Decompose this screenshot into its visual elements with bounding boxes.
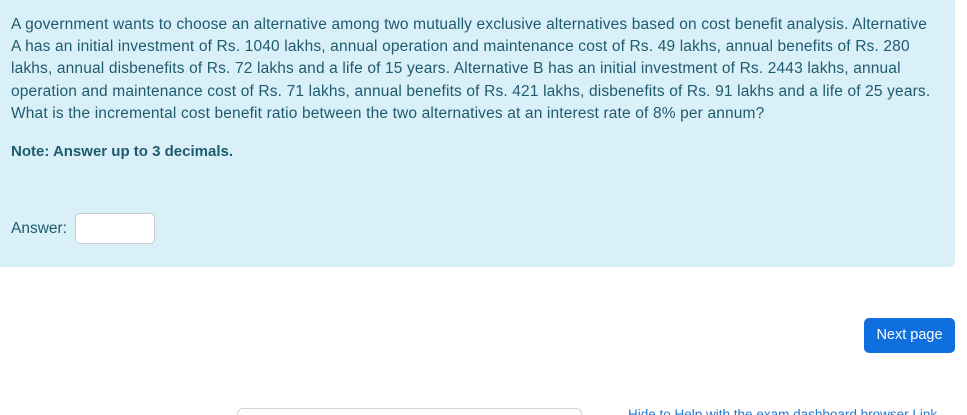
bottom-clipped-region: Hide to Help with the exam dashboard bro… bbox=[0, 403, 967, 415]
answer-input[interactable] bbox=[75, 213, 155, 244]
answer-label: Answer: bbox=[11, 219, 67, 239]
answer-row: Answer: bbox=[11, 213, 155, 244]
question-body-text: A government wants to choose an alternat… bbox=[11, 14, 931, 125]
bottom-help-link[interactable]: Hide to Help with the exam dashboard bro… bbox=[628, 406, 937, 415]
bottom-search-input[interactable] bbox=[237, 408, 582, 415]
answer-precision-note: Note: Answer up to 3 decimals. bbox=[11, 142, 955, 162]
question-panel: A government wants to choose an alternat… bbox=[0, 0, 955, 267]
next-page-button[interactable]: Next page bbox=[864, 318, 955, 353]
